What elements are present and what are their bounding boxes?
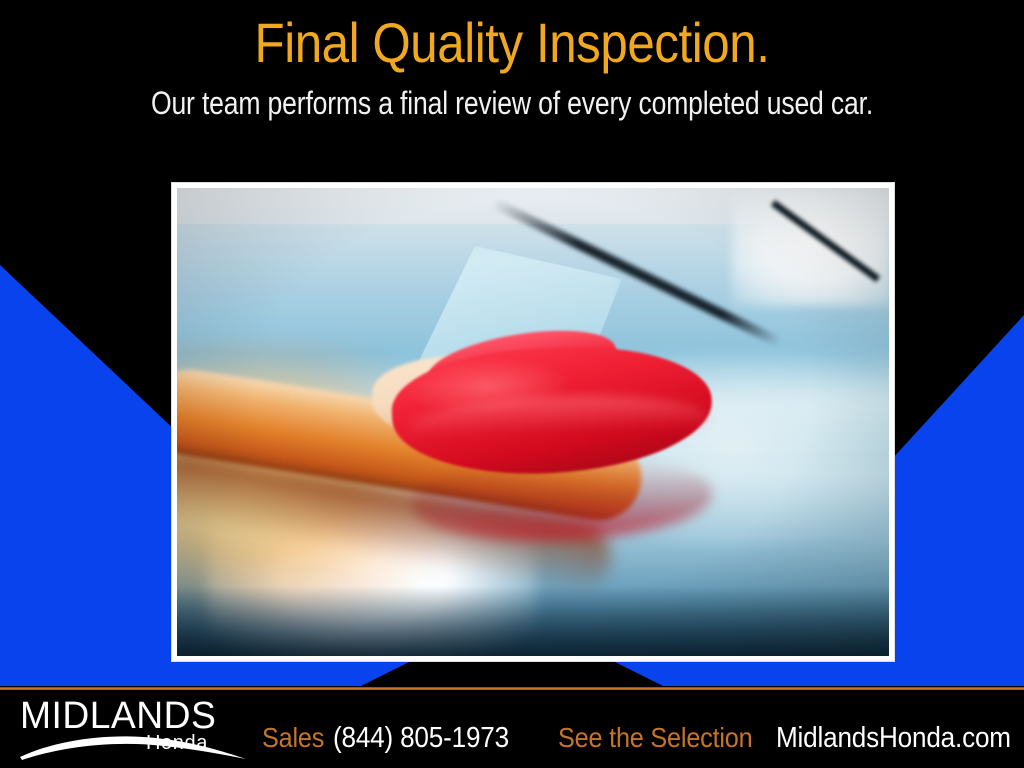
dealer-logo[interactable]: MIDLANDS Honda xyxy=(18,696,248,762)
website-url[interactable]: MidlandsHonda.com xyxy=(776,718,1011,758)
hero-photo-frame xyxy=(172,183,894,661)
logo-swoosh-icon xyxy=(18,726,250,762)
header: Final Quality Inspection. Our team perfo… xyxy=(0,0,1024,170)
sales-contact[interactable]: Sales(844) 805-1973 xyxy=(262,718,529,758)
sales-phone[interactable]: (844) 805-1973 xyxy=(333,718,509,758)
page-title: Final Quality Inspection. xyxy=(61,12,962,74)
selection-link[interactable]: See the SelectionMidlandsHonda.com xyxy=(558,718,1024,758)
selection-label: See the Selection xyxy=(558,718,752,758)
page-subtitle: Our team performs a final review of ever… xyxy=(87,84,937,122)
hero-photo xyxy=(177,188,889,656)
blue-panel-left xyxy=(0,255,200,686)
photo-vignette-layer xyxy=(177,188,889,656)
sales-label: Sales xyxy=(262,718,324,758)
ad-canvas: Final Quality Inspection. Our team perfo… xyxy=(0,0,1024,768)
